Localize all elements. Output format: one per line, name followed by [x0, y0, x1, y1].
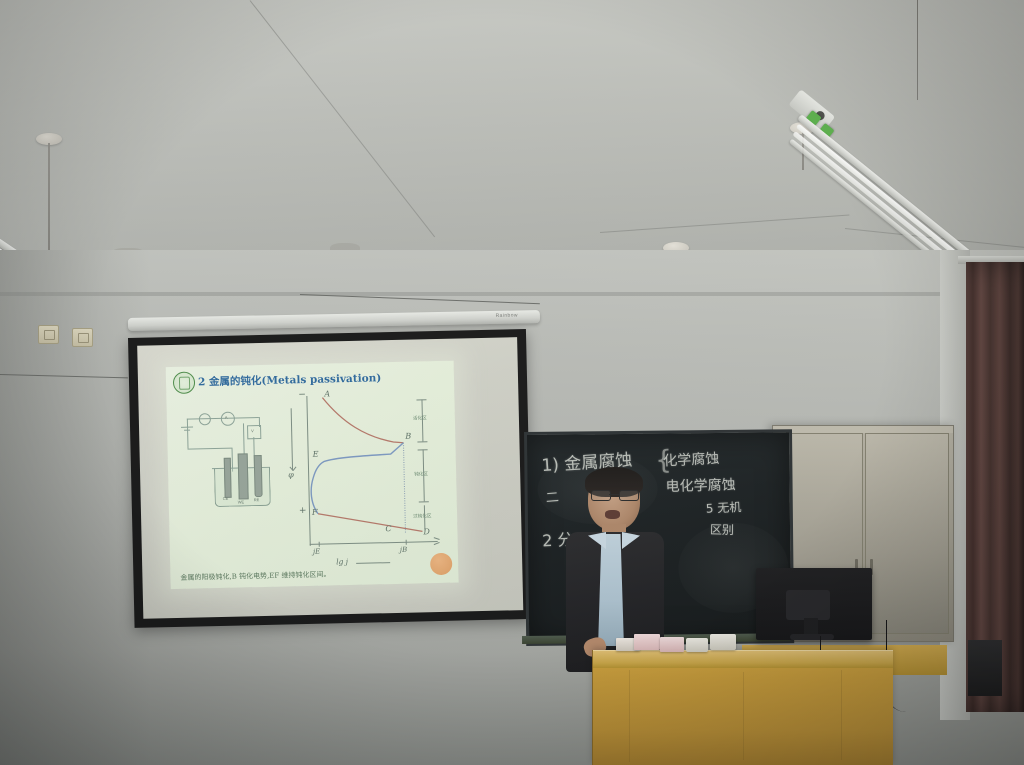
x-axis-label: lg j [336, 557, 348, 566]
electrode-label-ce: CE [223, 496, 229, 501]
mouth [605, 510, 620, 519]
monitor-rear-housing [786, 590, 830, 620]
projected-slide: 2 金属的钝化(Metals passivation) A V [166, 361, 459, 589]
glasses-lens-left [591, 490, 611, 501]
wall-outlet[interactable] [72, 328, 93, 347]
glasses-icon [591, 490, 637, 499]
hanging-wire [917, 0, 918, 100]
circuit-wire [187, 419, 189, 449]
wall-trim-band [0, 292, 1024, 296]
zone-label-transpassivation: 过钝化区 [413, 513, 432, 519]
source-label: A [225, 415, 228, 420]
circuit-wire [188, 448, 232, 450]
circuit-wire [259, 417, 260, 427]
zone-bracket-tick [419, 501, 429, 502]
slide-caption: 金属的阳极钝化,B 钝化电势,EF 维持钝化区间。 [180, 567, 450, 583]
x-tick-label-jB: jB [400, 546, 408, 554]
curve-transpassive [403, 443, 405, 533]
glasses-bridge [609, 494, 619, 495]
x-tick [406, 540, 407, 545]
lcd-monitor[interactable] [756, 568, 872, 640]
counter-electrode [224, 458, 232, 498]
chalk-text-line-7: 区别 [710, 521, 734, 539]
electrode-label-we: WE [238, 499, 245, 504]
glasses-lens-right [619, 490, 639, 501]
rheostat-symbol [197, 412, 212, 427]
three-electrode-cell-diagram: A V CE WE RE [185, 409, 280, 523]
point-label-C: C [385, 524, 391, 533]
x-tick-label-jE: jE [313, 548, 320, 556]
point-label-A: A [324, 389, 330, 398]
ceiling-drop-rod [48, 143, 50, 255]
board-eraser[interactable] [710, 634, 736, 650]
battery-symbol [184, 430, 190, 431]
zone-label-activation: 活化区 [413, 415, 427, 421]
podium-top-ledge [593, 650, 893, 668]
curve-passivation [310, 443, 405, 514]
screen-surface: 2 金属的钝化(Metals passivation) A V [137, 337, 523, 619]
meter-label: V [251, 428, 254, 433]
cabinet-door-right[interactable] [865, 433, 949, 634]
wood-grain [629, 670, 630, 762]
chalk-text-line-6: 5 无机 [705, 498, 741, 517]
wood-grain [743, 672, 744, 760]
wood-grain [841, 670, 842, 760]
x-tick [319, 542, 320, 547]
curve-anodic-tafel [318, 511, 422, 533]
podium [592, 650, 893, 765]
cabinet-top [773, 426, 953, 433]
classroom-photo: Rainbow 2 金属的钝化(Metals passivation) A [0, 0, 1024, 765]
slide-title: 2 金属的钝化(Metals passivation) [198, 370, 382, 389]
chalk-text-line-2: 二 [545, 486, 559, 506]
zone-label-passivation: 钝化区 [414, 471, 428, 477]
board-eraser[interactable] [686, 638, 708, 652]
point-label-F: F [312, 508, 318, 517]
floor-speaker [968, 640, 1002, 696]
polarization-curve-chart: φ − + A B [284, 391, 450, 575]
point-label-B: B [405, 432, 411, 441]
wall-outlet[interactable] [38, 325, 59, 344]
university-emblem-icon [173, 371, 195, 393]
roller-brand-label: Rainbow [496, 313, 518, 319]
chalk-box[interactable] [634, 634, 660, 650]
curve-cathodic [322, 396, 403, 445]
reference-electrode [254, 455, 263, 497]
chalk-box[interactable] [660, 637, 684, 652]
zone-bracket-tick [417, 441, 427, 442]
battery-symbol [181, 427, 193, 428]
projection-screen[interactable]: 2 金属的钝化(Metals passivation) A V [128, 329, 532, 628]
point-label-E: E [313, 450, 319, 459]
working-electrode [238, 453, 249, 499]
electrode-label-re: RE [254, 497, 260, 502]
chalk-text-line-5: 电化学腐蚀 [665, 474, 736, 496]
